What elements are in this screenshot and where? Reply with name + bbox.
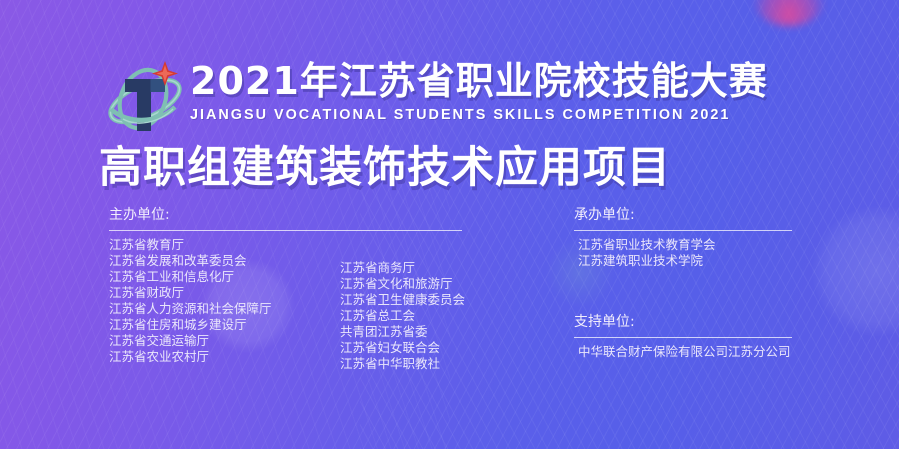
host-units-list-column-2: 江苏省商务厅 江苏省文化和旅游厅 江苏省卫生健康委员会 江苏省总工会 共青团江苏…	[340, 260, 465, 372]
host-units-label: 主办单位:	[109, 206, 462, 224]
banner-title-en: JIANGSU VOCATIONAL STUDENTS SKILLS COMPE…	[190, 106, 768, 124]
banner-header: 2021年江苏省职业院校技能大赛 JIANGSU VOCATIONAL STUD…	[0, 0, 899, 200]
list-item: 江苏省文化和旅游厅	[340, 276, 465, 292]
supporter-units-list: 中华联合财产保险有限公司江苏分公司	[574, 344, 792, 360]
banner-title-cn: 2021年江苏省职业院校技能大赛	[190, 58, 768, 104]
list-item: 江苏省中华职教社	[340, 356, 465, 372]
competition-banner: 2021年江苏省职业院校技能大赛 JIANGSU VOCATIONAL STUD…	[0, 0, 899, 449]
organizer-units-label: 承办单位:	[574, 206, 792, 224]
list-item: 江苏省教育厅	[109, 237, 462, 253]
list-item: 江苏省总工会	[340, 308, 465, 324]
units-area: 主办单位: 江苏省教育厅 江苏省发展和改革委员会 江苏省工业和信息化厅 江苏省财…	[0, 206, 899, 386]
list-item: 中华联合财产保险有限公司江苏分公司	[578, 344, 792, 360]
list-item: 江苏建筑职业技术学院	[578, 253, 792, 269]
supporter-units-rule	[574, 337, 792, 338]
supporter-units-block: 支持单位: 中华联合财产保险有限公司江苏分公司	[574, 313, 792, 360]
list-item: 江苏省商务厅	[340, 260, 465, 276]
organizer-units-block: 承办单位: 江苏省职业技术教育学会 江苏建筑职业技术学院	[574, 206, 792, 269]
host-units-block: 主办单位: 江苏省教育厅 江苏省发展和改革委员会 江苏省工业和信息化厅 江苏省财…	[109, 206, 462, 365]
organizer-units-list: 江苏省职业技术教育学会 江苏建筑职业技术学院	[574, 237, 792, 269]
jiangsu-competition-logo-icon	[103, 57, 187, 133]
list-item: 江苏省妇女联合会	[340, 340, 465, 356]
banner-subtitle-cn: 高职组建筑装饰技术应用项目	[99, 141, 671, 195]
title-block: 2021年江苏省职业院校技能大赛 JIANGSU VOCATIONAL STUD…	[190, 58, 768, 124]
organizer-units-rule	[574, 230, 792, 231]
list-item: 江苏省卫生健康委员会	[340, 292, 465, 308]
list-item: 江苏省职业技术教育学会	[578, 237, 792, 253]
supporter-units-label: 支持单位:	[574, 313, 792, 331]
list-item: 共青团江苏省委	[340, 324, 465, 340]
host-units-rule	[109, 230, 462, 231]
